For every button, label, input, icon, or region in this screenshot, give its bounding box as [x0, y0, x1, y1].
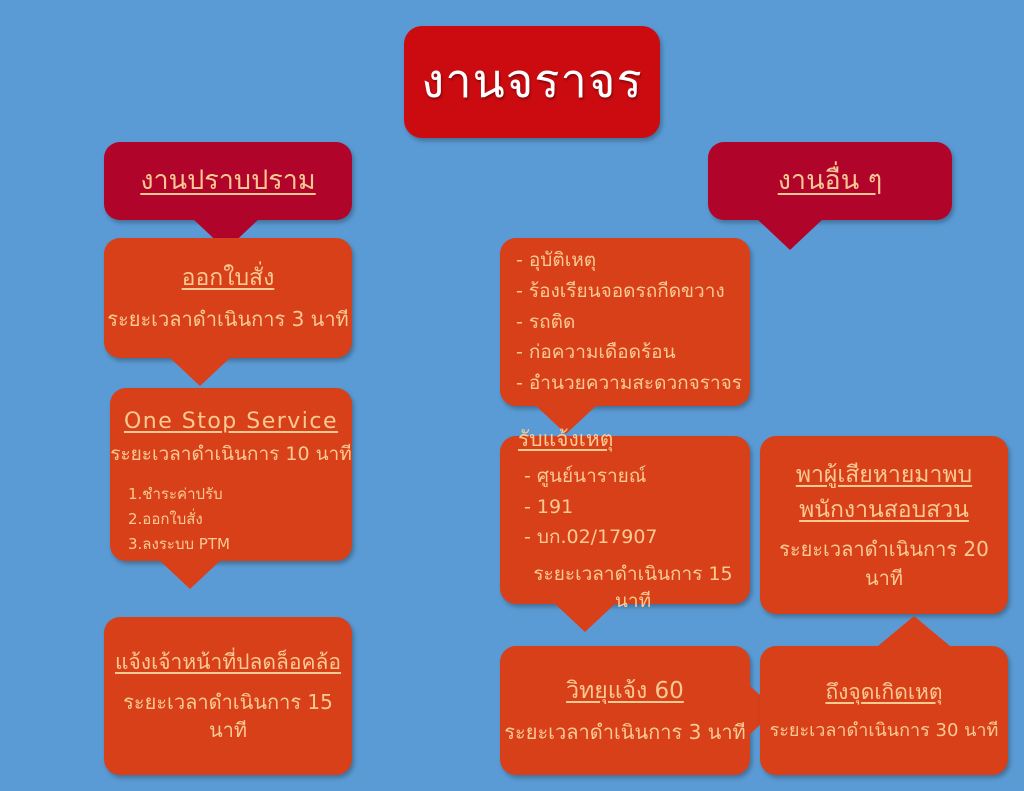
- left-node-unlock-wheel-duration: ระยะเวลาดำเนินการ 15 นาที: [104, 688, 352, 745]
- tail-receive-report-to-radio-report: [553, 602, 617, 632]
- list-item: - รถติด: [516, 307, 742, 338]
- list-item: - 191: [524, 492, 658, 523]
- right-node-receive-report: รับแจ้งเหตุ - ศูนย์นารายณ์ - 191 - บก.02…: [500, 436, 750, 604]
- right-node-case-types-list: - อุบัติเหตุ - ร้องเรียนจอดรถกีดขวาง - ร…: [516, 245, 742, 399]
- right-node-radio-report-heading: วิทยุแจ้ง 60: [566, 675, 684, 708]
- right-node-escort-victim-heading-line2: พนักงานสอบสวน: [799, 493, 969, 528]
- list-item: 2.ออกใบสั่ง: [128, 507, 230, 532]
- tail-left-node1-to-node2: [168, 356, 232, 386]
- right-node-arrive-scene-duration: ระยะเวลาดำเนินการ 30 นาที: [770, 718, 999, 744]
- left-branch-header-box: งานปราบปราม: [104, 142, 352, 220]
- list-item: - อำนวยความสะดวกจราจร: [516, 368, 742, 399]
- left-node-unlock-wheel-heading: แจ้งเจ้าหน้าที่ปลดล็อคล้อ: [115, 648, 341, 678]
- list-item: - อุบัติเหตุ: [516, 245, 742, 276]
- left-node-one-stop-service-heading: One Stop Service: [124, 406, 338, 437]
- left-node-issue-ticket-heading: ออกใบสั่ง: [182, 262, 275, 295]
- list-item: - ศูนย์นารายณ์: [524, 461, 658, 492]
- right-node-case-types: - อุบัติเหตุ - ร้องเรียนจอดรถกีดขวาง - ร…: [500, 238, 750, 406]
- flowchart-canvas: งานจราจร งานปราบปราม ออกใบสั่ง ระยะเวลาด…: [0, 0, 1024, 791]
- right-node-escort-victim: พาผู้เสียหายมาพบ พนักงานสอบสวน ระยะเวลาด…: [760, 436, 1008, 614]
- right-branch-header-box: งานอื่น ๆ: [708, 142, 952, 220]
- left-node-issue-ticket: ออกใบสั่ง ระยะเวลาดำเนินการ 3 นาที: [104, 238, 352, 358]
- right-node-receive-report-heading: รับแจ้งเหตุ: [518, 425, 613, 455]
- right-node-arrive-scene: ถึงจุดเกิดเหตุ ระยะเวลาดำเนินการ 30 นาที: [760, 646, 1008, 775]
- list-item: - ร้องเรียนจอดรถกีดขวาง: [516, 276, 742, 307]
- list-item: - ก่อความเดือดร้อน: [516, 337, 742, 368]
- right-node-arrive-scene-heading: ถึงจุดเกิดเหตุ: [825, 678, 942, 708]
- right-node-escort-victim-heading-line1: พาผู้เสียหายมาพบ: [796, 458, 972, 493]
- page-title: งานจราจร: [421, 49, 642, 116]
- left-node-issue-ticket-duration: ระยะเวลาดำเนินการ 3 นาที: [107, 305, 349, 333]
- left-node-unlock-wheel: แจ้งเจ้าหน้าที่ปลดล็อคล้อ ระยะเวลาดำเนิน…: [104, 617, 352, 775]
- tail-right-header-to-case-types: [756, 218, 824, 250]
- left-node-one-stop-service-duration: ระยะเวลาดำเนินการ 10 นาที: [110, 441, 352, 468]
- tail-left-node2-to-node3: [158, 559, 222, 589]
- right-node-receive-report-duration: ระยะเวลาดำเนินการ 15 นาที: [516, 561, 750, 615]
- list-item: - บก.02/17907: [524, 522, 658, 553]
- left-branch-header-label: งานปราบปราม: [140, 162, 315, 200]
- flowchart-title-box: งานจราจร: [404, 26, 660, 138]
- tail-arrive-scene-to-escort-victim: [878, 616, 950, 646]
- list-item: 1.ชำระค่าปรับ: [128, 482, 230, 507]
- list-item: 3.ลงระบบ PTM: [128, 532, 230, 557]
- right-node-radio-report: วิทยุแจ้ง 60 ระยะเวลาดำเนินการ 3 นาที: [500, 646, 750, 775]
- right-node-escort-victim-duration: ระยะเวลาดำเนินการ 20 นาที: [760, 535, 1008, 592]
- right-node-radio-report-duration: ระยะเวลาดำเนินการ 3 นาที: [504, 718, 746, 746]
- left-node-one-stop-service: One Stop Service ระยะเวลาดำเนินการ 10 นา…: [110, 388, 352, 561]
- right-node-receive-report-list: - ศูนย์นารายณ์ - 191 - บก.02/17907: [524, 461, 658, 553]
- left-node-one-stop-service-steps: 1.ชำระค่าปรับ 2.ออกใบสั่ง 3.ลงระบบ PTM: [128, 482, 230, 556]
- right-branch-header-label: งานอื่น ๆ: [778, 162, 883, 200]
